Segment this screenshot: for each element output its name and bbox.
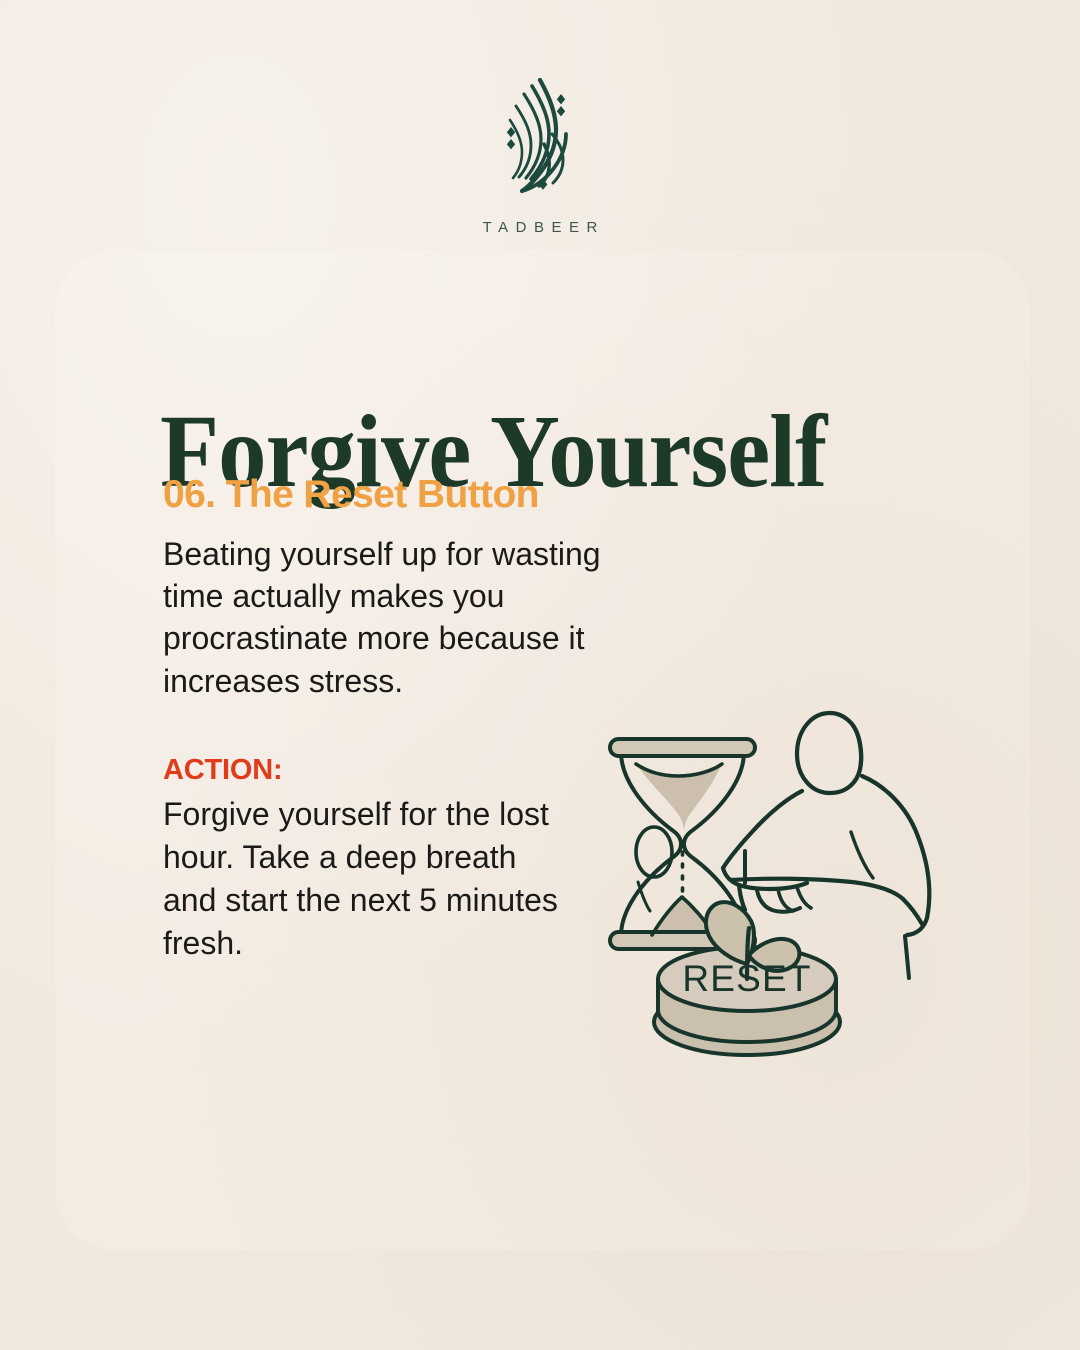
action-block: ACTION: Forgive yourself for the lost ho… — [163, 754, 663, 966]
content-column: 06. The Reset Button Beating yourself up… — [163, 474, 663, 966]
tadbeer-calligraphy-logo-icon — [486, 72, 594, 201]
poster-canvas: TADBEER Forgive Yourself 06. The Reset B… — [0, 0, 1080, 1350]
action-label: ACTION: — [163, 754, 663, 787]
reset-button-illustration: RESET — [592, 692, 972, 1072]
section-heading: 06. The Reset Button — [163, 474, 663, 517]
action-body-text: Forgive yourself for the lost hour. Take… — [163, 793, 558, 966]
brand-wordmark: TADBEER — [475, 219, 605, 236]
brand-header: TADBEER — [0, 72, 1080, 236]
reset-button-label: RESET — [682, 958, 811, 999]
section-body-text: Beating yourself up for wasting time act… — [163, 533, 653, 702]
